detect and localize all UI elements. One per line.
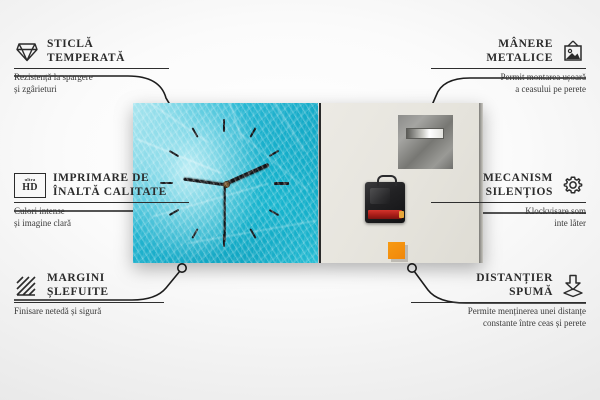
diagonal-stripes-icon xyxy=(14,274,40,298)
hanger-strip xyxy=(406,128,444,139)
metal-hanger-plate-image xyxy=(398,115,453,169)
callout-desc-line1: Permit montarea ușoară xyxy=(431,72,586,84)
callout-desc-line1: Rezistență la spargere xyxy=(14,72,169,84)
battery xyxy=(368,210,402,219)
hour-tick xyxy=(274,182,289,185)
quartz-mechanism-image xyxy=(365,182,405,223)
callout-divider xyxy=(14,202,189,203)
hour-tick xyxy=(269,150,280,157)
callout-hd-print: ultra HD IMPRIMARE DE ÎNALTĂ CALITATE Cu… xyxy=(14,172,189,229)
callout-title-line1: MECANISM xyxy=(483,172,553,186)
callout-tempered-glass: STICLĂ TEMPERATĂ Rezistență la spargere … xyxy=(14,38,169,95)
callout-desc-line1: Klockvisare som xyxy=(431,206,586,218)
foam-spacer-image xyxy=(388,242,405,259)
hour-tick xyxy=(249,228,256,239)
callout-desc-line1: Culori intense xyxy=(14,206,189,218)
callout-divider xyxy=(14,68,169,69)
callout-desc-line2: și imagine clară xyxy=(14,218,189,230)
gear-icon xyxy=(560,174,586,198)
callout-title-line2: SILENȚIOS xyxy=(483,186,553,200)
infographic-canvas: STICLĂ TEMPERATĂ Rezistență la spargere … xyxy=(0,0,600,400)
mechanism-face xyxy=(370,188,390,204)
press-down-spacer-icon xyxy=(560,274,586,298)
minute-hand xyxy=(183,177,225,186)
callout-divider xyxy=(411,302,586,303)
callout-desc-line2: a ceasului pe perete xyxy=(431,84,586,96)
callout-foam-spacer: DISTANȚIER SPUMĂ Permite menținerea unei… xyxy=(411,272,586,329)
callout-desc-line2: inte låter xyxy=(431,218,586,230)
hanging-frame-icon xyxy=(560,40,586,64)
hour-tick xyxy=(191,127,198,138)
callout-title-line2: SPUMĂ xyxy=(476,286,553,300)
callout-desc-line2: și zgârieturi xyxy=(14,84,169,96)
clock-center-pivot xyxy=(223,181,230,188)
callout-title-line1: MÂNERE xyxy=(486,38,553,52)
ultra-hd-badge-icon: ultra HD xyxy=(14,173,46,198)
callout-title-line2: ÎNALTĂ CALITATE xyxy=(53,186,167,200)
callout-desc-line1: Permite menținerea unei distanțe xyxy=(411,306,586,318)
callout-silent-mechanism: MECANISM SILENȚIOS Klockvisare som inte … xyxy=(431,172,586,229)
hour-tick xyxy=(191,228,198,239)
ultra-hd-badge-large: HD xyxy=(22,183,38,193)
hour-tick xyxy=(223,234,225,247)
callout-divider xyxy=(14,302,164,303)
hanger-loop xyxy=(377,175,397,186)
callout-title-line1: MARGINI xyxy=(47,272,109,286)
hour-tick xyxy=(223,119,225,132)
callout-title-line2: TEMPERATĂ xyxy=(47,52,125,66)
hour-tick xyxy=(169,150,180,157)
second-hand xyxy=(224,184,226,242)
hour-tick xyxy=(249,127,256,138)
callout-title-line1: IMPRIMARE DE xyxy=(53,172,167,186)
callout-desc-line2: constante între ceas și perete xyxy=(411,318,586,330)
diamond-gem-icon xyxy=(14,40,40,64)
callout-polished-edges: MARGINI ȘLEFUITE Finisare netedă și sigu… xyxy=(14,272,164,318)
callout-divider xyxy=(431,202,586,203)
callout-divider xyxy=(431,68,586,69)
callout-desc-line1: Finisare netedă și sigură xyxy=(14,306,164,318)
hour-hand xyxy=(224,163,269,186)
callout-title-line1: DISTANȚIER xyxy=(476,272,553,286)
callout-metal-handles: MÂNERE METALICE Permit montarea ușoară a… xyxy=(431,38,586,95)
connector-endpoint-foam-spacer xyxy=(408,264,416,272)
hour-tick xyxy=(269,209,280,216)
callout-title-line2: ȘLEFUITE xyxy=(47,286,109,300)
callout-title-line2: METALICE xyxy=(486,52,553,66)
connector-endpoint-polished-edges xyxy=(178,264,186,272)
callout-title-line1: STICLĂ xyxy=(47,38,125,52)
